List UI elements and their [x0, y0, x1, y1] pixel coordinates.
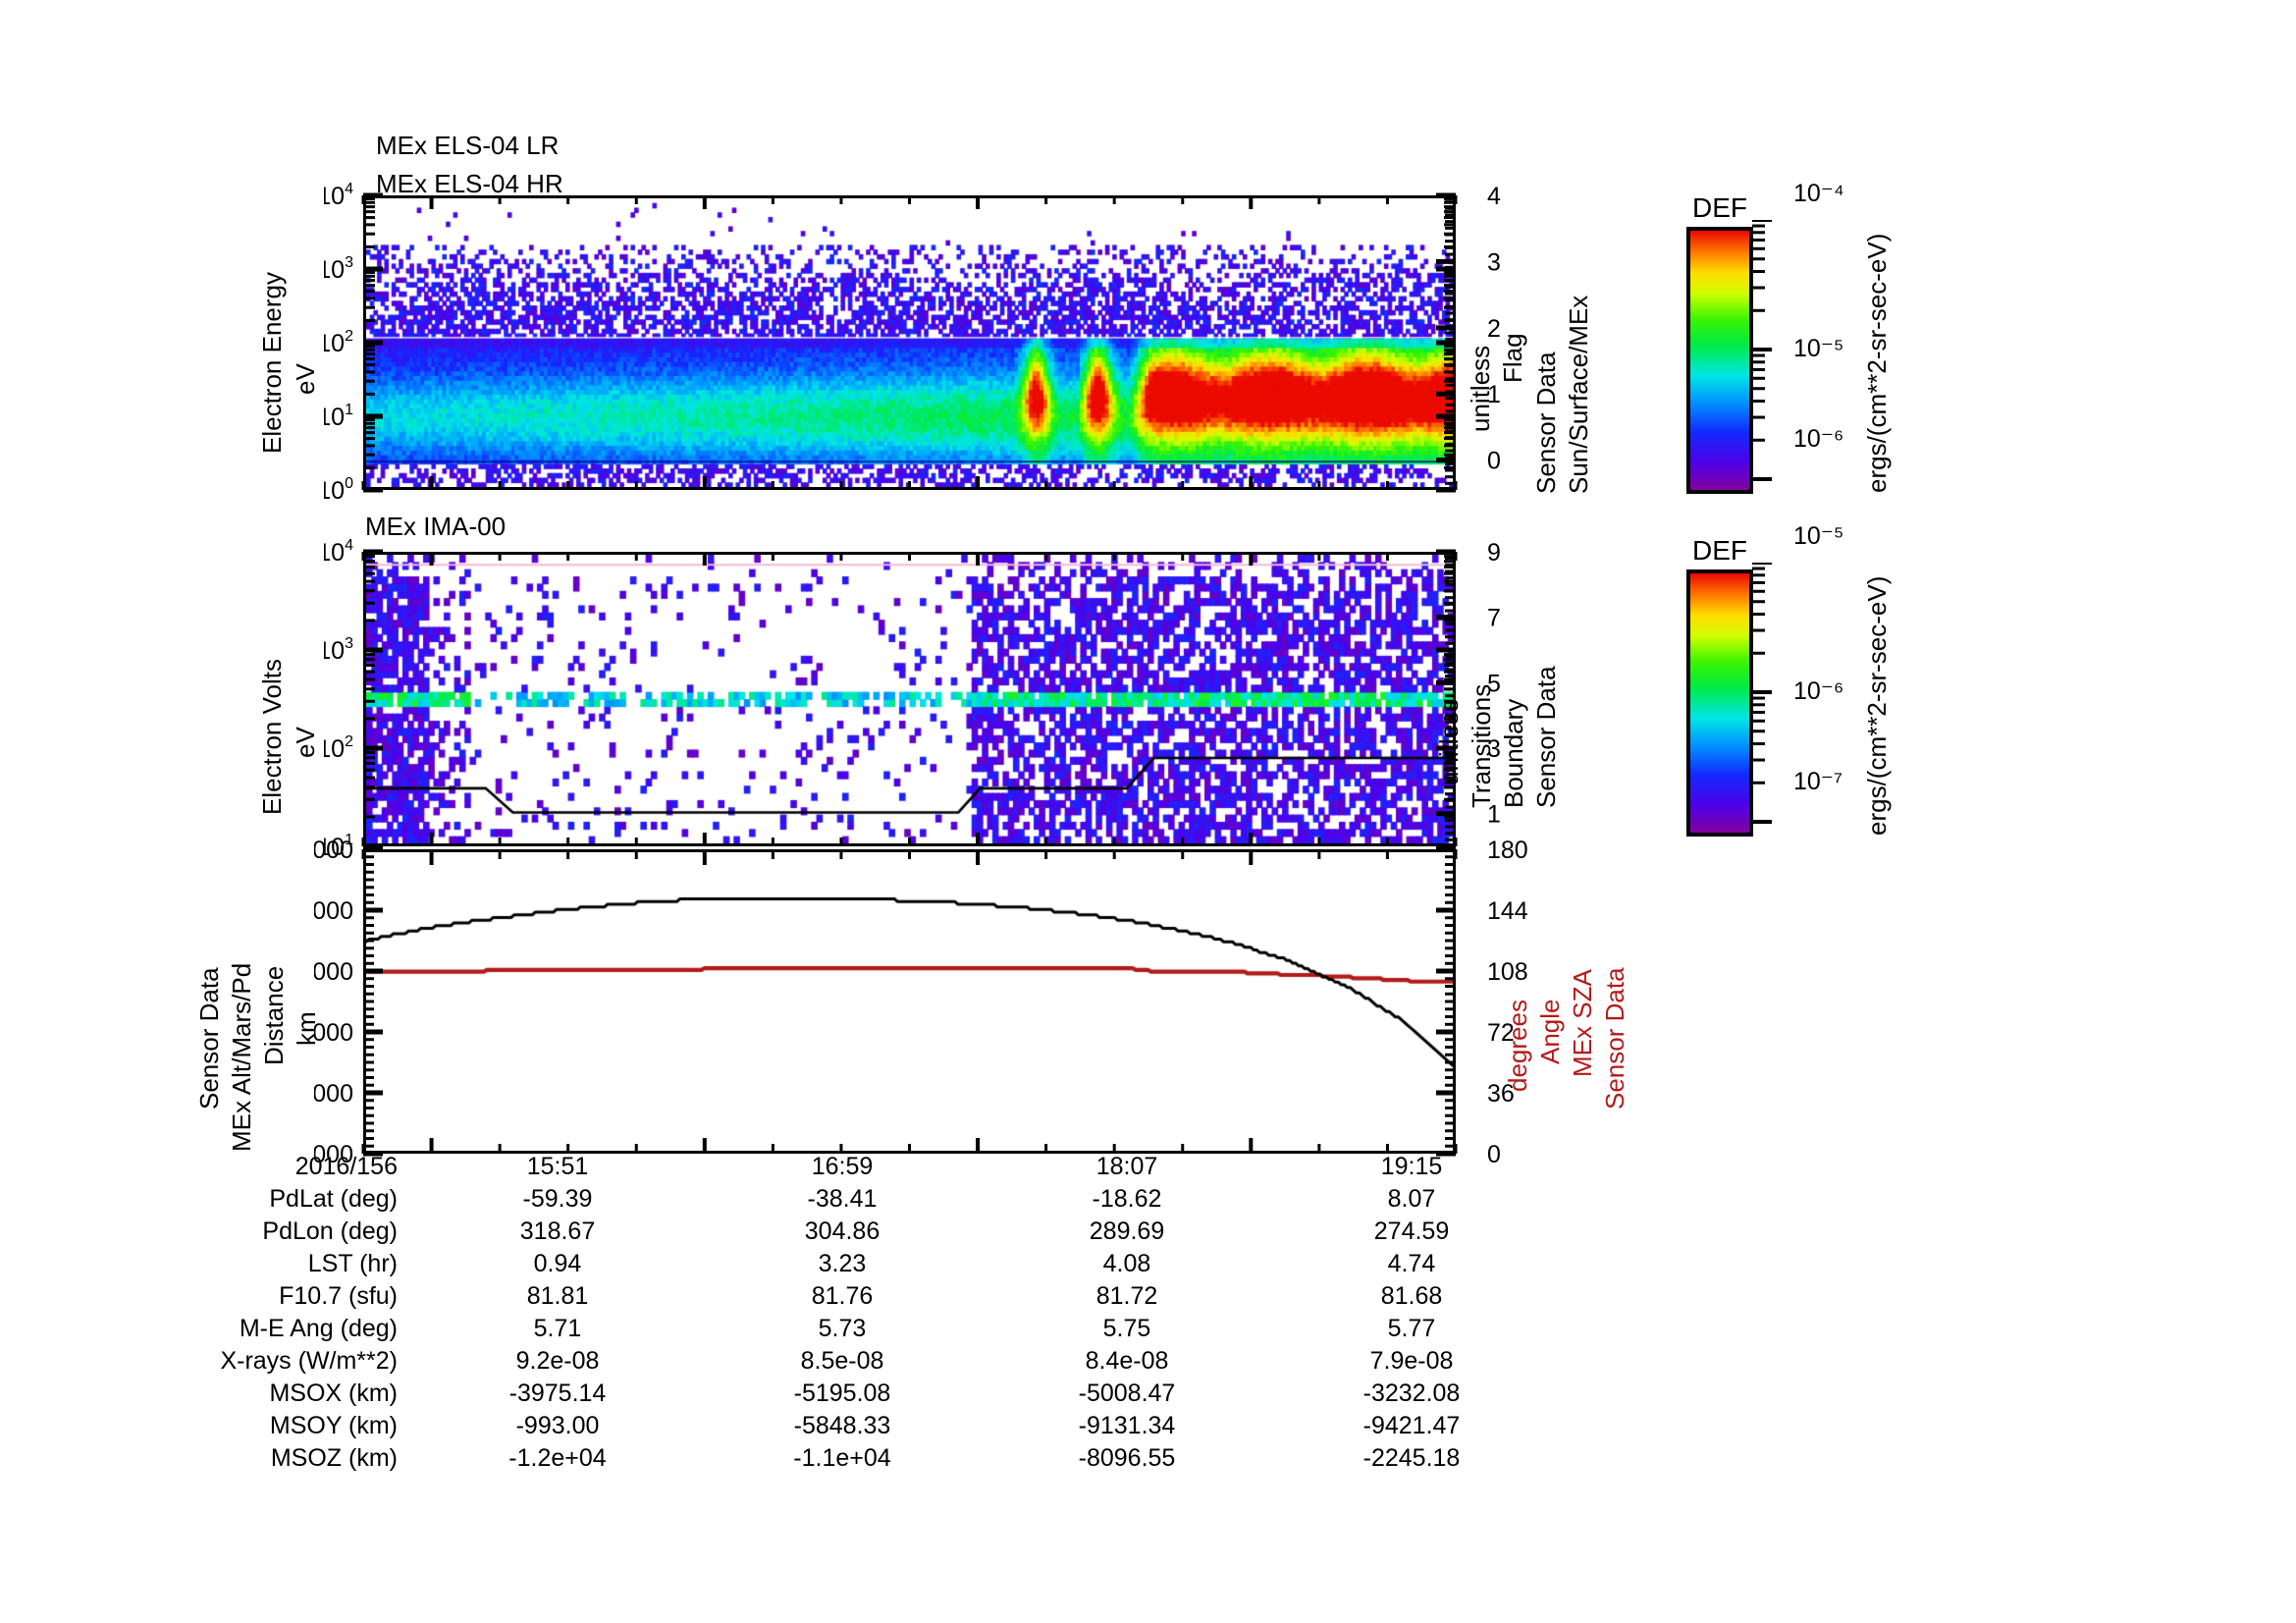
table-row: F10.7 (sfu)81.8181.7681.7281.68	[172, 1280, 1554, 1313]
table-cell: -9131.34	[985, 1410, 1269, 1442]
svg-text:8000: 8000	[314, 958, 353, 986]
table-row-label: PdLat (deg)	[172, 1183, 415, 1216]
panel1-colorbar-mid-tick: 10⁻⁵	[1793, 334, 1843, 363]
table-row: MSOY (km)-993.00-5848.33-9131.34-9421.47	[172, 1410, 1554, 1442]
panel1-right-axis-l2: Sun/Surface/MEx	[1566, 258, 1592, 494]
svg-text:12000: 12000	[314, 837, 353, 864]
table-cell: 16:59	[700, 1151, 985, 1183]
panel2-plot[interactable]	[363, 552, 1456, 846]
panel2-colorbar-title: DEF	[1686, 535, 1753, 567]
table-cell: -18.62	[985, 1183, 1269, 1216]
svg-text:144: 144	[1487, 897, 1528, 925]
table-cell: 4.08	[985, 1248, 1269, 1280]
svg-text:102: 102	[324, 733, 353, 763]
panel2-right-axis-l4: unitless	[1436, 648, 1463, 785]
svg-text:9: 9	[1487, 539, 1501, 567]
table-row: MSOX (km)-3975.14-5195.08-5008.47-3232.0…	[172, 1378, 1554, 1410]
svg-text:102: 102	[324, 328, 353, 357]
svg-text:104: 104	[324, 182, 353, 210]
panel1-colorbar-units: ergs/(cm**2-sr-sec-eV)	[1864, 218, 1891, 493]
table-cell: -38.41	[700, 1183, 985, 1216]
parameter-table: 2016/15615:5116:5918:0719:15PdLat (deg)-…	[172, 1151, 1554, 1475]
table-row-label: M-E Ang (deg)	[172, 1313, 415, 1345]
svg-text:103: 103	[324, 635, 353, 665]
svg-text:104: 104	[324, 538, 353, 567]
table-cell: -5848.33	[700, 1410, 985, 1442]
svg-text:101: 101	[324, 832, 353, 861]
table-cell: -3975.14	[415, 1378, 700, 1410]
svg-text:3: 3	[1487, 248, 1501, 276]
panel1-right-axis-l4: unitless	[1468, 295, 1494, 432]
table-cell: 8.07	[1269, 1183, 1554, 1216]
panel1-title-lr: MEx ELS-04 LR	[376, 131, 559, 161]
table-cell: 8.4e-08	[985, 1345, 1269, 1378]
panel1-right-axis-l3: Flag	[1500, 295, 1526, 383]
table-row-label: LST (hr)	[172, 1248, 415, 1280]
panel2-colorbar-bottom-tick: 10⁻⁷	[1793, 767, 1842, 796]
table-cell: 8.5e-08	[700, 1345, 985, 1378]
svg-text:101: 101	[324, 402, 353, 431]
panel1-left-axis-label: Electron Energy	[259, 257, 286, 454]
table-cell: 81.68	[1269, 1280, 1554, 1313]
table-cell: 0.94	[415, 1248, 700, 1280]
panel2-right-axis-l2: Boundary	[1501, 617, 1527, 808]
table-cell: 4.74	[1269, 1248, 1554, 1280]
table-cell: 289.69	[985, 1216, 1269, 1248]
table-cell: 274.59	[1269, 1216, 1554, 1248]
table-cell: -8096.55	[985, 1442, 1269, 1475]
table-cell: 304.86	[700, 1216, 985, 1248]
svg-text:180: 180	[1487, 837, 1528, 864]
table-cell: 5.77	[1269, 1313, 1554, 1345]
table-cell: -993.00	[415, 1410, 700, 1442]
panel1-colorbar-bottom-tick: 10⁻⁶	[1793, 424, 1843, 454]
table-cell: -5195.08	[700, 1378, 985, 1410]
table-row-label: X-rays (W/m**2)	[172, 1345, 415, 1378]
table-row-label: MSOX (km)	[172, 1378, 415, 1410]
table-cell: 3.23	[700, 1248, 985, 1280]
panel3-right-axis-l4: degrees	[1505, 974, 1531, 1092]
table-cell: -5008.47	[985, 1378, 1269, 1410]
svg-text:4000: 4000	[314, 1080, 353, 1108]
panel1-colorbar-title: DEF	[1686, 192, 1753, 224]
panel3-left-axis-l1: Sensor Data	[196, 938, 223, 1109]
svg-text:103: 103	[324, 254, 353, 284]
table-cell: -1.1e+04	[700, 1442, 985, 1475]
table-row: PdLon (deg)318.67304.86289.69274.59	[172, 1216, 1554, 1248]
panel2-title: MEx IMA-00	[365, 512, 506, 542]
panel3-plot[interactable]	[363, 849, 1456, 1154]
table-row: 2016/15615:5116:5918:0719:15	[172, 1151, 1554, 1183]
panel3-right-axis-l1: Sensor Data	[1602, 938, 1629, 1109]
panel3-left-axis-l3: Distance	[261, 938, 288, 1065]
table-cell: 318.67	[415, 1216, 700, 1248]
table-cell: -3232.08	[1269, 1378, 1554, 1410]
panel2-left-axis-unit: eV	[293, 709, 319, 758]
panel1-right-axis-l1: Sensor Data	[1533, 258, 1560, 494]
panel2-right-axis-l1: Sensor Data	[1533, 617, 1560, 808]
panel2-colorbar: DEF	[1686, 535, 1753, 837]
panel2-right-axis-l3: Transitions	[1468, 617, 1495, 808]
panel2-colorbar-top-tick: 10⁻⁵	[1793, 521, 1843, 551]
table-cell: -1.2e+04	[415, 1442, 700, 1475]
panel1-colorbar: DEF	[1686, 192, 1753, 494]
table-cell: 15:51	[415, 1151, 700, 1183]
svg-text:4: 4	[1487, 183, 1501, 210]
table-cell: 9.2e-08	[415, 1345, 700, 1378]
table-row: MSOZ (km)-1.2e+04-1.1e+04-8096.55-2245.1…	[172, 1442, 1554, 1475]
table-row-label: MSOY (km)	[172, 1410, 415, 1442]
table-cell: 81.76	[700, 1280, 985, 1313]
table-cell: 5.73	[700, 1313, 985, 1345]
table-cell: -9421.47	[1269, 1410, 1554, 1442]
panel1-plot[interactable]	[363, 195, 1456, 490]
table-cell: 18:07	[985, 1151, 1269, 1183]
table-row-label: PdLon (deg)	[172, 1216, 415, 1248]
panel2-left-axis-label: Electron Volts	[259, 628, 286, 815]
svg-text:10000: 10000	[314, 897, 353, 925]
table-row: M-E Ang (deg)5.715.735.755.77	[172, 1313, 1554, 1345]
panel3-right-axis-l2: MEx SZA	[1570, 938, 1596, 1077]
panel1-colorbar-top-tick: 10⁻⁴	[1793, 179, 1844, 208]
svg-text:100: 100	[324, 475, 353, 505]
svg-text:0: 0	[1487, 448, 1501, 475]
table-row: LST (hr)0.943.234.084.74	[172, 1248, 1554, 1280]
panel2-colorbar-mid-tick: 10⁻⁶	[1793, 676, 1843, 706]
table-cell: 5.75	[985, 1313, 1269, 1345]
table-cell: 7.9e-08	[1269, 1345, 1554, 1378]
table-cell: 81.72	[985, 1280, 1269, 1313]
table-cell: 5.71	[415, 1313, 700, 1345]
panel1-left-axis-unit: eV	[293, 346, 319, 395]
panel3-left-axis-l2: MEx Alt/Mars/Pd	[229, 938, 255, 1152]
table-row-label: F10.7 (sfu)	[172, 1280, 415, 1313]
table-cell: -59.39	[415, 1183, 700, 1216]
table-row: PdLat (deg)-59.39-38.41-18.628.07	[172, 1183, 1554, 1216]
panel2-colorbar-units: ergs/(cm**2-sr-sec-eV)	[1864, 561, 1891, 836]
panel3-right-axis-l3: Angle	[1537, 974, 1564, 1064]
table-cell: 19:15	[1269, 1151, 1554, 1183]
table-cell: 81.81	[415, 1280, 700, 1313]
table-cell: -2245.18	[1269, 1442, 1554, 1475]
panel3-left-axis-l4: km	[294, 992, 320, 1046]
table-row: X-rays (W/m**2)9.2e-088.5e-088.4e-087.9e…	[172, 1345, 1554, 1378]
table-row-label: 2016/156	[172, 1151, 415, 1183]
table-row-label: MSOZ (km)	[172, 1442, 415, 1475]
